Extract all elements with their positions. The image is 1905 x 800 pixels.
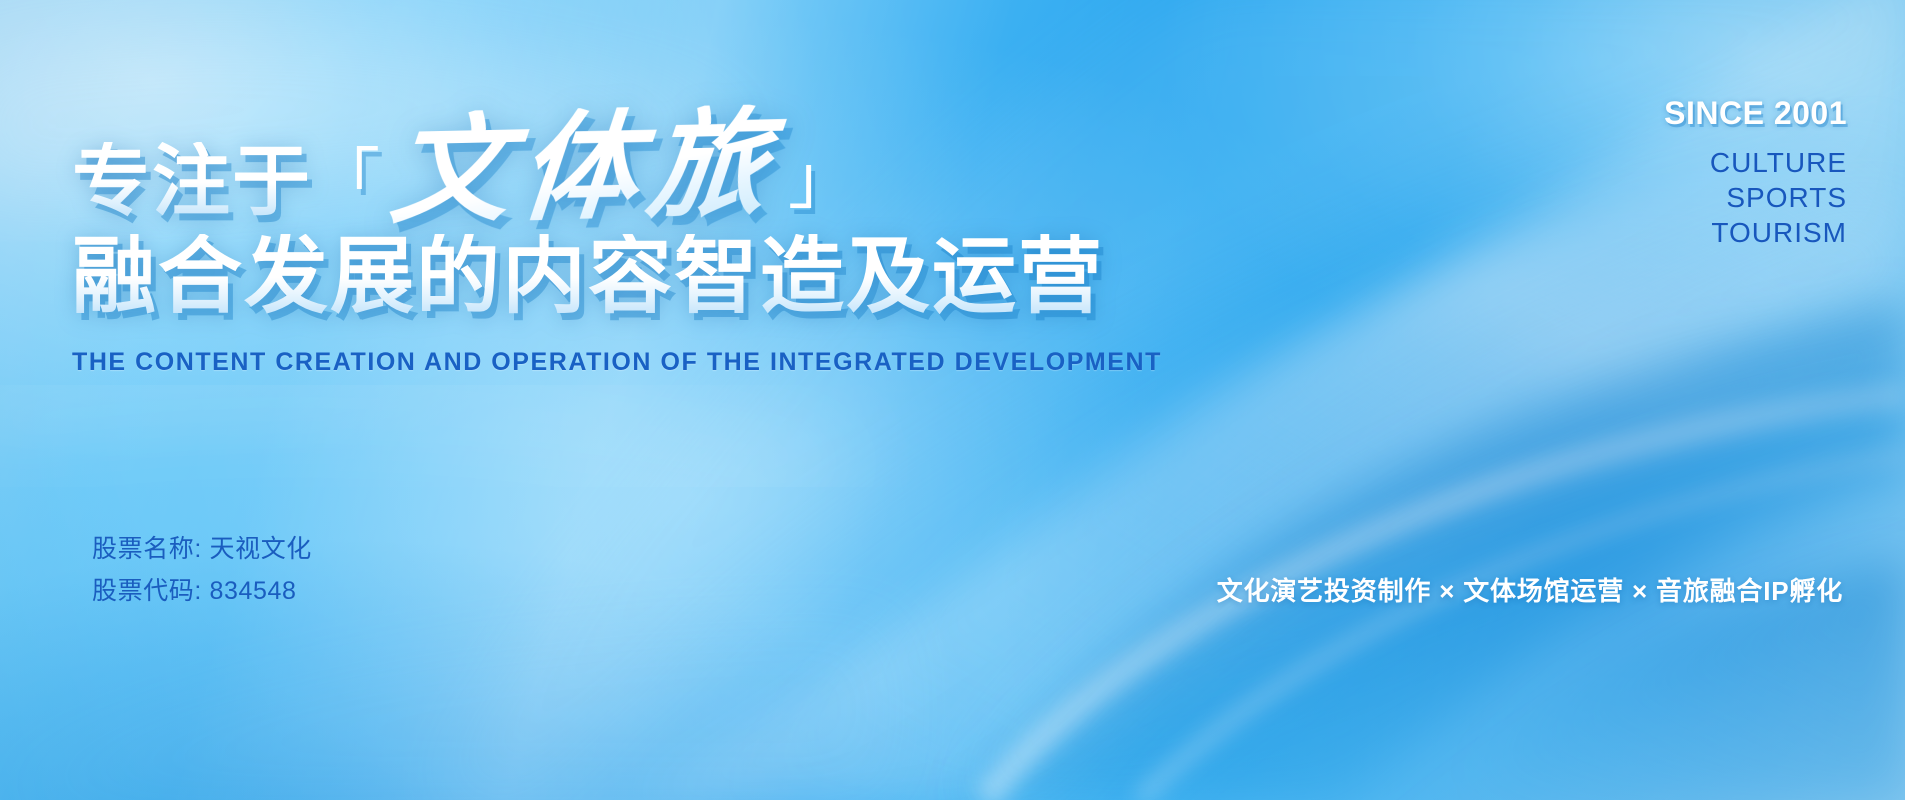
headline-line-1: 专注于 「 文体旅 」	[72, 96, 1132, 220]
since-block: SINCE 2001 CULTURE SPORTS TOURISM	[1487, 96, 1847, 250]
headline-english-subtitle: THE CONTENT CREATION AND OPERATION OF TH…	[72, 348, 1132, 377]
quote-open-bracket-icon: 「	[312, 146, 382, 220]
since-category-item-tourism: TOURISM	[1487, 215, 1847, 250]
banner-content: 专注于 「 文体旅 」 融合发展的内容智造及运营 THE CONTENT CRE…	[0, 0, 1905, 800]
quote-close-bracket-icon: 」	[786, 146, 856, 220]
since-category-item-culture: CULTURE	[1487, 145, 1847, 180]
since-year-title: SINCE 2001	[1487, 96, 1847, 131]
headline-keyword-brush-text: 文体旅	[377, 104, 792, 230]
headline-line-2: 融合发展的内容智造及运营	[72, 222, 1132, 318]
stock-info-block: 股票名称: 天视文化 股票代码: 834548	[92, 528, 312, 612]
headline-prefix-text: 专注于	[72, 142, 312, 220]
since-category-item-sports: SPORTS	[1487, 180, 1847, 215]
headline-secondary-text: 融合发展的内容智造及运营	[72, 234, 1104, 318]
business-tagline: 文化演艺投资制作 × 文体场馆运营 × 音旅融合IP孵化	[1217, 571, 1843, 608]
headline-block: 专注于 「 文体旅 」 融合发展的内容智造及运营 THE CONTENT CRE…	[72, 96, 1132, 377]
stock-code-line: 股票代码: 834548	[92, 570, 312, 612]
stock-name-line: 股票名称: 天视文化	[92, 528, 312, 570]
since-category-list: CULTURE SPORTS TOURISM	[1487, 145, 1847, 250]
brand-banner: 专注于 「 文体旅 」 融合发展的内容智造及运营 THE CONTENT CRE…	[0, 0, 1905, 800]
